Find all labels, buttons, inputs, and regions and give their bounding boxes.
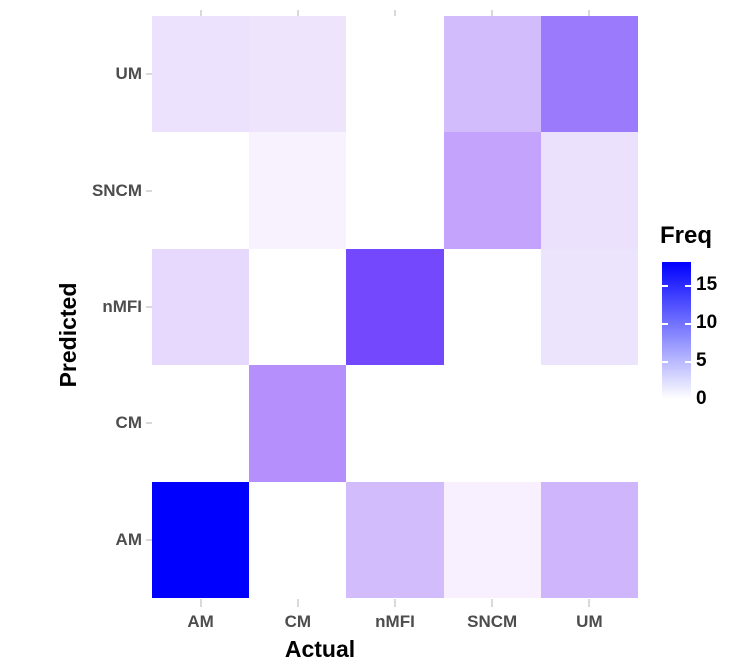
y-axis-tick-label: AM (116, 530, 142, 550)
heatmap-panel (152, 16, 638, 598)
legend-tick-label: 10 (696, 312, 717, 334)
heatmap-cell (152, 16, 249, 132)
heatmap-cell (444, 16, 541, 132)
x-axis-tick-label: nMFI (375, 612, 415, 632)
legend-tick-mark (685, 285, 691, 287)
heatmap-cell (249, 132, 346, 248)
x-axis-tick-mark (394, 599, 396, 607)
legend: Freq 151050 (652, 222, 740, 412)
y-axis-tick-label: UM (116, 64, 142, 84)
legend-tick-label: 5 (696, 350, 707, 372)
x-axis-tick-mark (297, 599, 299, 607)
heatmap-cell (541, 482, 638, 598)
heatmap-cell (346, 482, 443, 598)
x-axis-tick-mark (200, 599, 202, 607)
legend-colorbar (662, 262, 691, 399)
heatmap-cell (444, 482, 541, 598)
y-axis-tick-labels: UMSNCMnMFICMAM (60, 0, 142, 670)
legend-tick-mark (662, 399, 668, 401)
x-axis-tick-label: AM (187, 612, 213, 632)
legend-tick-mark (662, 361, 668, 363)
x-axis-tick-mark (588, 599, 590, 607)
heatmap-cell (152, 482, 249, 598)
y-axis-tick-label: CM (116, 413, 142, 433)
heatmap-cell (249, 16, 346, 132)
x-axis-tick-mark (491, 599, 493, 607)
legend-tick-mark (685, 323, 691, 325)
heatmap-cell (541, 249, 638, 365)
heatmap-cell (346, 249, 443, 365)
x-axis-tick-label: CM (285, 612, 311, 632)
heatmap-cell (541, 132, 638, 248)
legend-tick-mark (685, 399, 691, 401)
legend-title: Freq (660, 222, 712, 250)
heatmap-cell (444, 132, 541, 248)
legend-tick-mark (662, 285, 668, 287)
chart-canvas: Predicted Actual UMSNCMnMFICMAM AMCMnMFI… (0, 0, 740, 670)
legend-tick-mark (685, 361, 691, 363)
heatmap-cell (249, 365, 346, 481)
legend-tick-mark (662, 323, 668, 325)
y-axis-tick-label: SNCM (92, 181, 142, 201)
heatmap-cell (152, 249, 249, 365)
heatmap-cell (541, 16, 638, 132)
y-axis-tick-label: nMFI (102, 297, 142, 317)
legend-tick-label: 0 (696, 388, 707, 410)
legend-tick-label: 15 (696, 274, 717, 296)
x-axis-tick-label: UM (576, 612, 602, 632)
x-axis-tick-label: SNCM (467, 612, 517, 632)
